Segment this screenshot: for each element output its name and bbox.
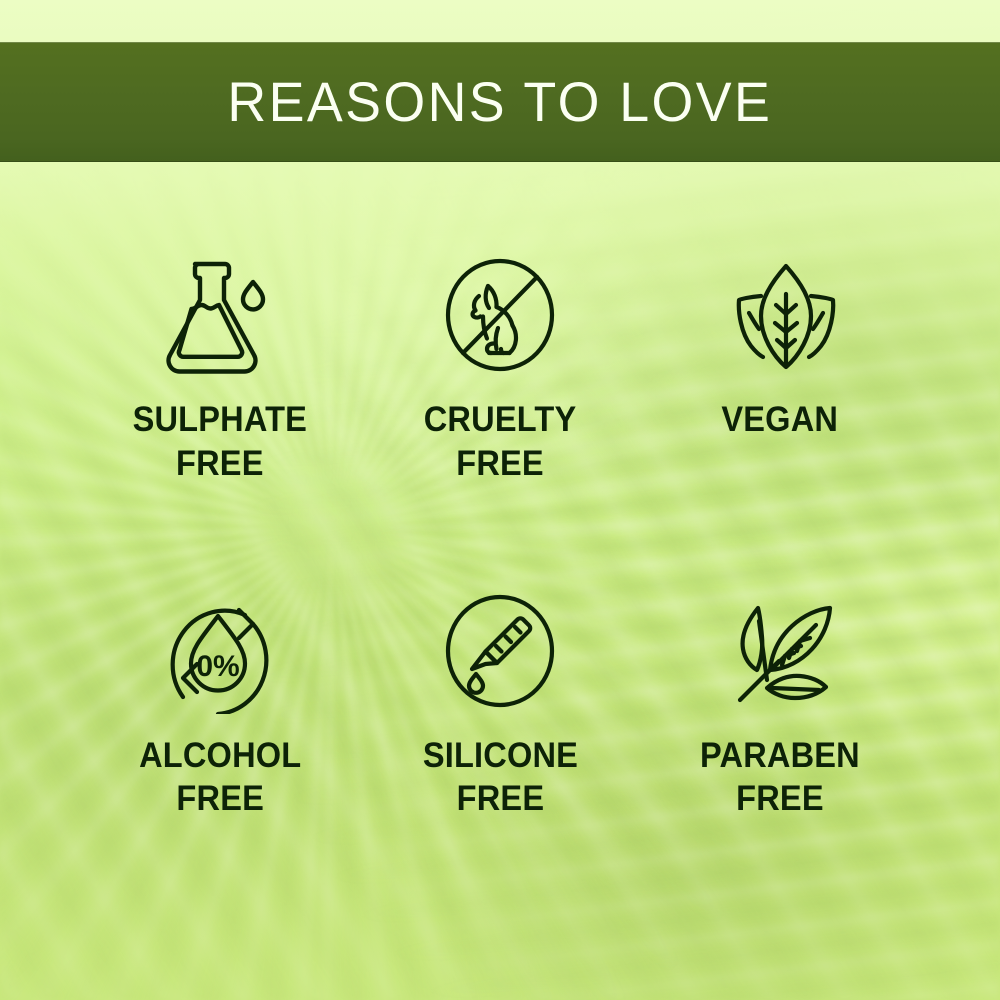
page-title: REASONS TO LOVE — [228, 74, 773, 130]
flask-droplet-icon — [153, 250, 283, 380]
benefit-label-line2: FREE — [700, 777, 860, 821]
benefit-label-line2: FREE — [422, 777, 577, 821]
benefit-label-line1: CRUELTY — [424, 400, 577, 439]
benefit-alcohol-free: 0% ALCOHOL FREE — [80, 586, 360, 822]
benefit-label-line2: FREE — [139, 777, 301, 821]
benefit-cruelty-free: CRUELTY FREE — [360, 250, 640, 486]
benefit-sulphate-free: SULPHATE FREE — [80, 250, 360, 486]
benefits-grid: SULPHATE FREE — [80, 250, 920, 821]
benefit-label: SILICONE FREE — [422, 734, 577, 822]
leaf-branch-icon — [721, 586, 851, 716]
pipette-dropper-icon — [435, 586, 565, 716]
benefit-label-line2: FREE — [133, 442, 307, 486]
benefit-label: PARABEN FREE — [700, 734, 860, 822]
benefit-label-line1: PARABEN — [700, 736, 860, 775]
poster-canvas: REASONS TO LOVE SULPHATE FREE — [0, 0, 1000, 1000]
benefit-label-line2: FREE — [424, 442, 577, 486]
header-banner: REASONS TO LOVE — [0, 42, 1000, 162]
droplet-zero-percent-text: 0% — [196, 650, 239, 683]
benefit-paraben-free: PARABEN FREE — [640, 586, 920, 822]
benefit-label: VEGAN — [722, 398, 839, 442]
benefit-label-line1: SILICONE — [422, 736, 577, 775]
benefit-label-line1: SULPHATE — [133, 400, 307, 439]
benefit-label: SULPHATE FREE — [133, 398, 307, 486]
benefit-label: ALCOHOL FREE — [139, 734, 301, 822]
no-animal-testing-icon — [435, 250, 565, 380]
benefit-vegan: VEGAN — [640, 250, 920, 486]
benefit-label-line1: VEGAN — [722, 400, 839, 439]
benefit-silicone-free: SILICONE FREE — [360, 586, 640, 822]
benefit-label: CRUELTY FREE — [424, 398, 577, 486]
zero-percent-droplet-icon: 0% — [153, 586, 283, 716]
benefit-label-line1: ALCOHOL — [139, 736, 301, 775]
three-leaves-icon — [721, 250, 851, 380]
